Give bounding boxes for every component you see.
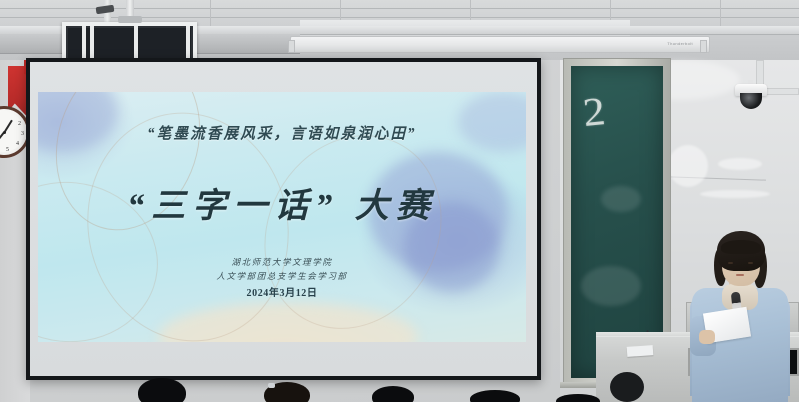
audience-head <box>470 390 520 402</box>
slide-date: 2024年3月12日 <box>38 284 526 299</box>
slide-subtitle: “笔墨流香展风采，言语如泉润心田” <box>38 121 526 143</box>
slide-organization-line-2: 人文学部团总支学生会学习部 <box>38 270 526 282</box>
classroom-scene: Thunderbolt 2 3 <box>0 0 799 402</box>
clock-number: 4 <box>16 141 19 147</box>
clock-number: 2 <box>18 121 21 127</box>
hair-clip <box>268 383 275 388</box>
slide-title: “三字一话” 大赛 <box>38 178 526 227</box>
projector-clamp <box>118 16 142 23</box>
audience-head <box>372 386 414 402</box>
audience-head <box>138 378 186 402</box>
paper-stack <box>627 345 654 357</box>
wall-scuff <box>668 145 708 187</box>
podium-cutout <box>610 372 644 402</box>
audience-head <box>556 394 600 402</box>
clock-number: 5 <box>6 147 9 153</box>
wall-scuff <box>718 158 762 170</box>
roller-brand-label: Thunderbolt <box>667 41 693 46</box>
wall-scuff <box>700 190 770 198</box>
presenter-hand <box>699 330 715 344</box>
screen-roller-housing: Thunderbolt <box>290 36 710 53</box>
clock-number: 3 <box>21 131 24 137</box>
slide-organization-line-1: 湖北师范大学文理学院 <box>38 256 526 268</box>
presentation-slide: “笔墨流香展风采，言语如泉润心田” “三字一话” 大赛 湖北师范大学文理学院 人… <box>38 92 526 342</box>
